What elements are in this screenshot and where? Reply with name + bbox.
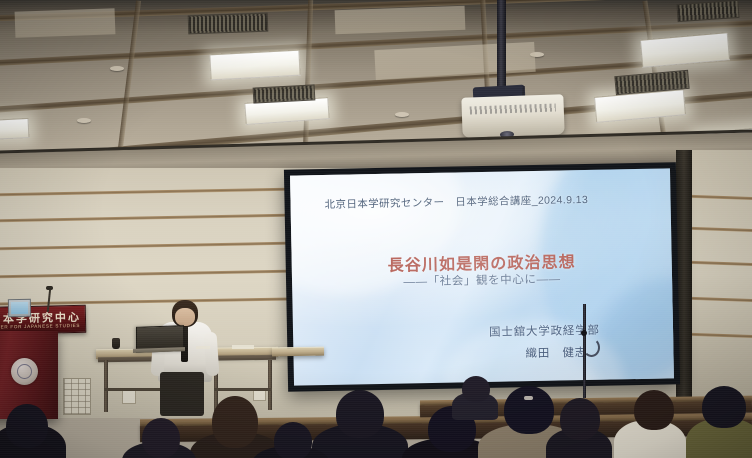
audience-head (702, 386, 746, 428)
slide-presenter-name: 織田 健志 (525, 344, 587, 361)
right-wall (690, 150, 752, 400)
presenter-chair (160, 372, 204, 416)
wall-control-panel (63, 378, 91, 415)
projection-screen: 北京日本学研究センター 日本学総合講座_2024.9.13 長谷川如是閑の政治思… (290, 168, 674, 385)
audience-head (634, 390, 674, 430)
presenter-face (175, 308, 195, 326)
smoke-detector-icon (77, 118, 91, 123)
audience-head (212, 396, 258, 448)
monitor-screen (11, 302, 28, 314)
table-leg (104, 360, 108, 412)
audience-head (462, 376, 490, 402)
audience-head (142, 418, 180, 458)
presenter-arm-right (203, 332, 219, 377)
confidence-monitor (8, 299, 31, 317)
audience-head (336, 390, 384, 438)
air-vent (188, 13, 269, 35)
university-seal-icon (11, 358, 38, 385)
audience-head (504, 386, 554, 434)
microphone-clamp-icon (581, 330, 587, 336)
ceiling-light (0, 118, 29, 142)
projector-mount-pole (497, 0, 506, 90)
table-brace (214, 388, 272, 391)
smoke-detector-icon (395, 112, 409, 117)
ceiling-light (209, 50, 300, 81)
papers-on-table (196, 346, 210, 349)
air-vent (676, 0, 739, 22)
ceiling-light (640, 32, 730, 68)
wall-outlet (122, 390, 136, 404)
ceiling-projector (461, 94, 564, 138)
audience-head (560, 398, 600, 440)
hair-clip (524, 396, 533, 400)
audience-head (274, 422, 312, 458)
microphone-cable-loop (583, 338, 600, 357)
papers-on-table (232, 345, 254, 349)
lecture-hall-scene: 北京日本学研究センター 日本学総合講座_2024.9.13 長谷川如是閑の政治思… (0, 0, 752, 458)
ceiling-light (594, 89, 686, 123)
speaker-table-top-right (272, 347, 324, 357)
air-vent (253, 84, 316, 103)
audience-head (6, 404, 48, 448)
podium-microphone-head-icon (46, 286, 53, 290)
podium-banner-english: CENTER FOR JAPANESE STUDIES (0, 323, 85, 330)
cup (112, 338, 120, 349)
smoke-detector-icon (110, 66, 124, 71)
table-leg (268, 360, 272, 410)
